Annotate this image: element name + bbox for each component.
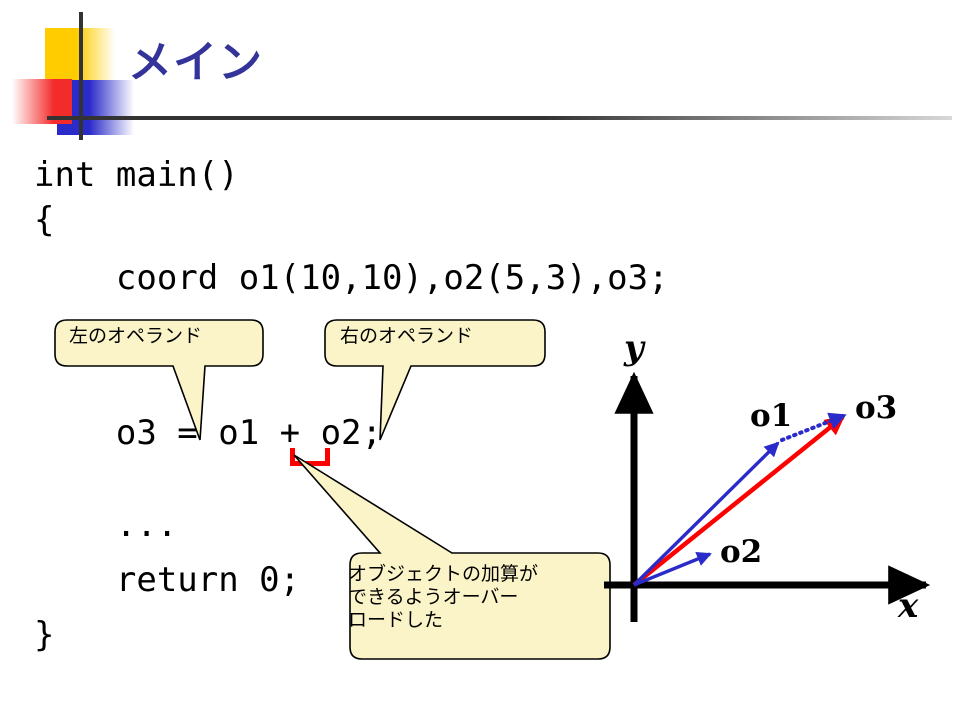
vector-o3-label: o3 — [855, 390, 897, 426]
code-line-open-brace: { — [34, 200, 54, 240]
vector-o1-label: o1 — [750, 398, 792, 434]
page-title: メイン — [128, 26, 263, 90]
code-line-coord-decl: coord o1(10,10),o2(5,3),o3; — [34, 258, 669, 298]
vector-diagram — [600, 330, 960, 630]
code-line-ellipsis: ... — [34, 505, 177, 545]
callout-overload-note-label: オブジェクトの加算が できるようオーバー ロードした — [348, 563, 538, 633]
decoration-square-yellow — [45, 28, 115, 80]
axis-x-label: x — [898, 586, 918, 626]
code-line-close-brace: } — [34, 615, 54, 655]
callout-left-operand-label: 左のオペランド — [69, 325, 202, 348]
axis-y-label: y — [624, 328, 644, 368]
code-line-int-main: int main() — [34, 155, 239, 195]
vector-o2 — [634, 554, 710, 585]
vector-o2-label: o2 — [720, 534, 762, 570]
code-line-return: return 0; — [34, 560, 300, 600]
callout-right-operand-label: 右のオペランド — [340, 325, 473, 348]
decoration-horizontal-rule — [47, 116, 952, 120]
decoration-square-blue — [57, 80, 134, 135]
decoration-vertical-rule — [79, 12, 83, 140]
